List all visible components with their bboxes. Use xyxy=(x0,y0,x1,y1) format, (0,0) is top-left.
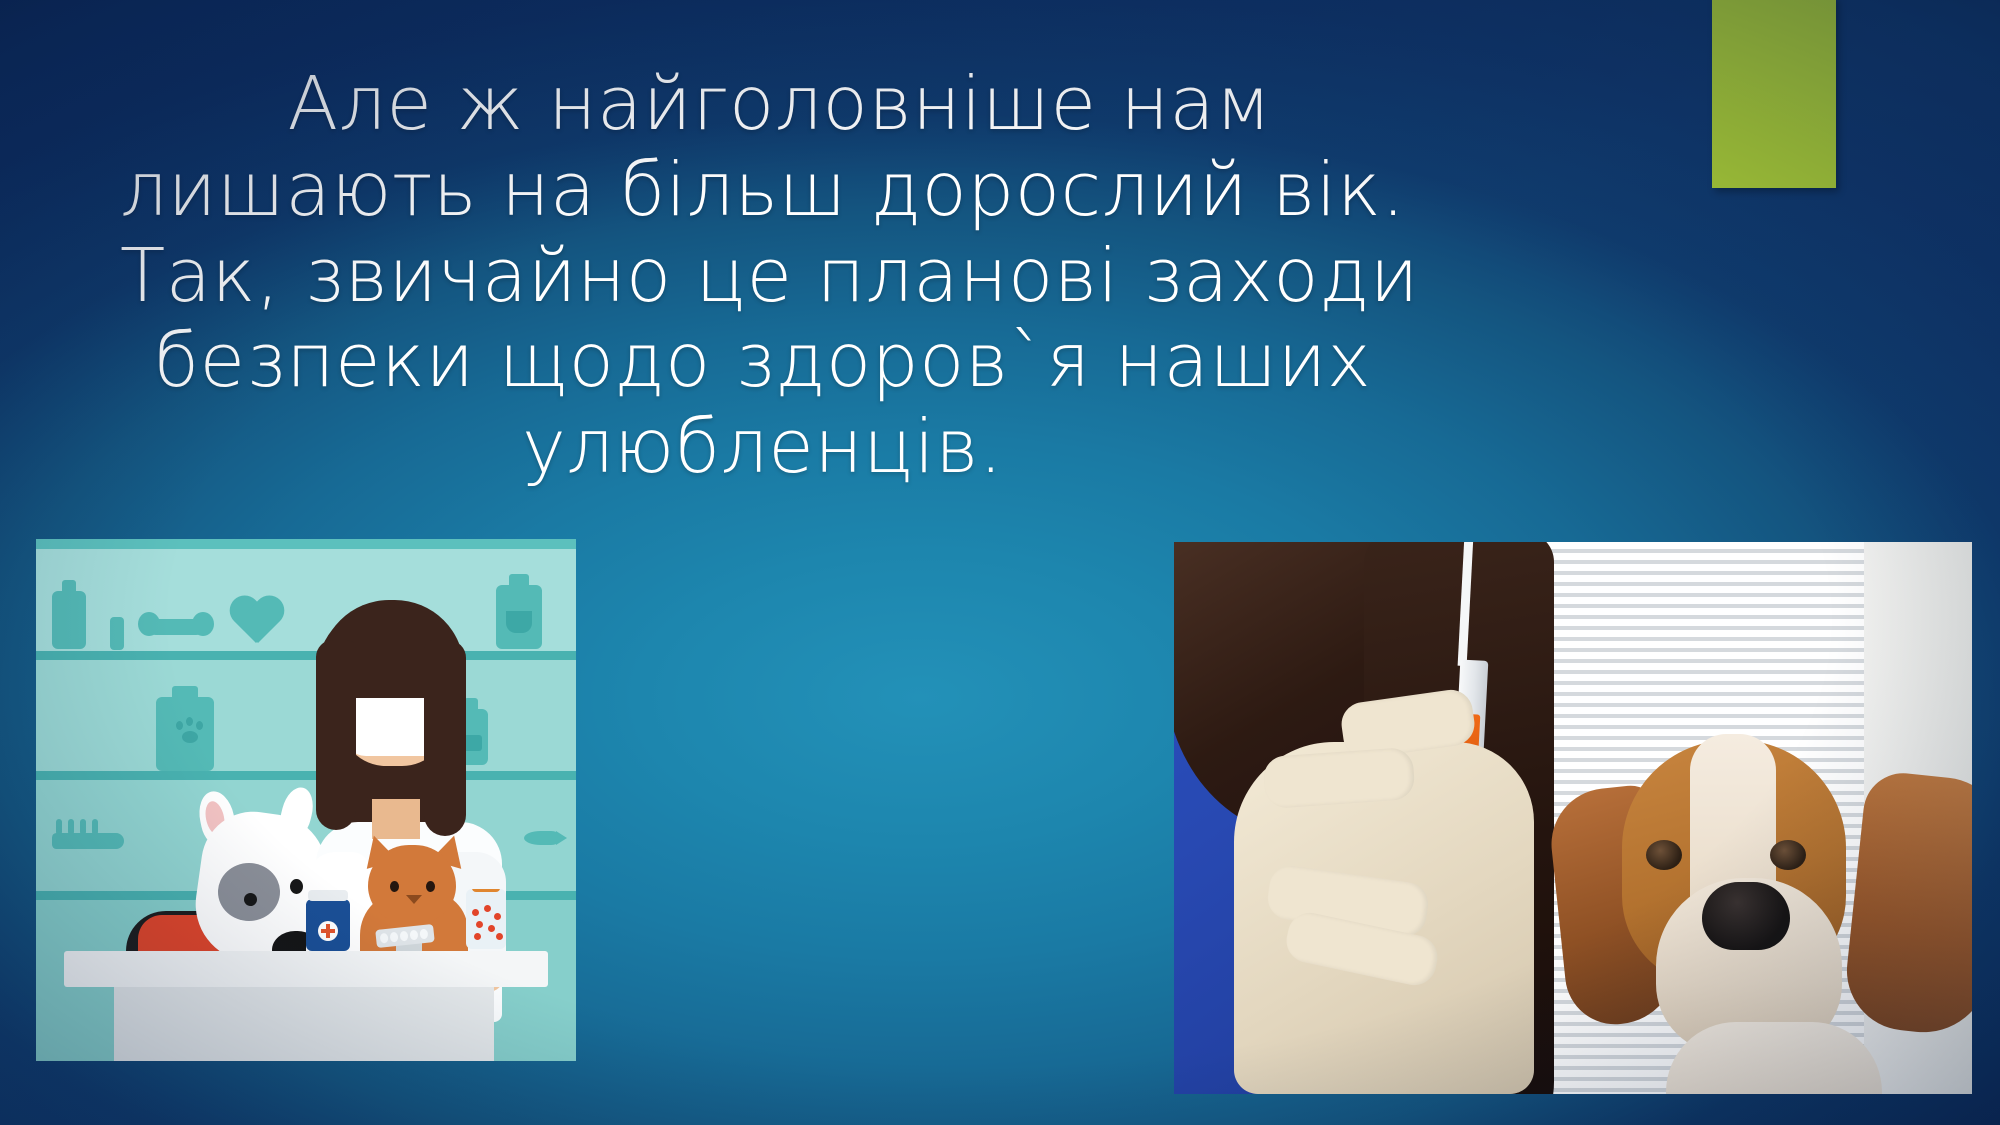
vet-hair-side-left xyxy=(316,640,356,830)
paw-icon-pad xyxy=(182,731,198,743)
vet-vaccinating-beagle-photo xyxy=(1174,542,1972,1094)
vet-hair-side-right xyxy=(424,640,466,836)
exam-table-base xyxy=(114,979,494,1061)
title-line-3: Так, звичайно це планові заходи xyxy=(120,234,1405,320)
beagle-chest xyxy=(1666,1022,1882,1094)
exam-table-top xyxy=(64,951,548,987)
cat-eye-right xyxy=(426,881,435,892)
presentation-slide: Але ж найголовніше нам лишають на більш … xyxy=(0,0,2000,1125)
medicine-jar xyxy=(306,899,350,951)
glove-finger-middle xyxy=(1262,747,1415,809)
wall-top-strip xyxy=(36,539,576,549)
shelf-bottle-2 xyxy=(110,617,124,650)
dog-pupil-left xyxy=(244,893,257,906)
grooming-brush-icon xyxy=(52,833,124,849)
paw-icon-dot-2 xyxy=(186,717,193,726)
title-line-1: Але ж найголовніше нам xyxy=(120,62,1405,148)
latex-glove-hand xyxy=(1234,742,1534,1094)
beagle-eye-right xyxy=(1770,840,1806,870)
paw-icon-dot-3 xyxy=(196,721,203,730)
vet-clinic-illustration xyxy=(36,539,576,1061)
beagle-dog xyxy=(1574,692,1972,1094)
heart-icon xyxy=(228,597,284,647)
slide-title-text: Але ж найголовніше нам лишають на більш … xyxy=(120,62,1405,491)
dog-eye-patch xyxy=(218,863,280,921)
title-line-2: лишають на більш дорослий вік. xyxy=(120,148,1405,234)
cat-nose xyxy=(406,895,422,904)
beagle-nose xyxy=(1702,882,1790,950)
fish-icon xyxy=(524,831,558,845)
cat-head xyxy=(368,845,456,923)
shelf-bottle-1 xyxy=(52,591,86,649)
paw-icon-dot-1 xyxy=(176,721,183,730)
beagle-eye-left xyxy=(1646,840,1682,870)
first-aid-cross-icon xyxy=(318,921,338,941)
pill-bottle xyxy=(466,889,506,949)
title-line-5: улюбленців. xyxy=(120,405,1405,491)
beagle-ear-right xyxy=(1841,769,1972,1038)
title-line-4: безпеки щодо здоров`я наших xyxy=(120,319,1405,405)
bone-toy-icon xyxy=(148,619,204,635)
green-accent-rectangle xyxy=(1712,0,1836,188)
cat-eye-left xyxy=(390,881,399,892)
